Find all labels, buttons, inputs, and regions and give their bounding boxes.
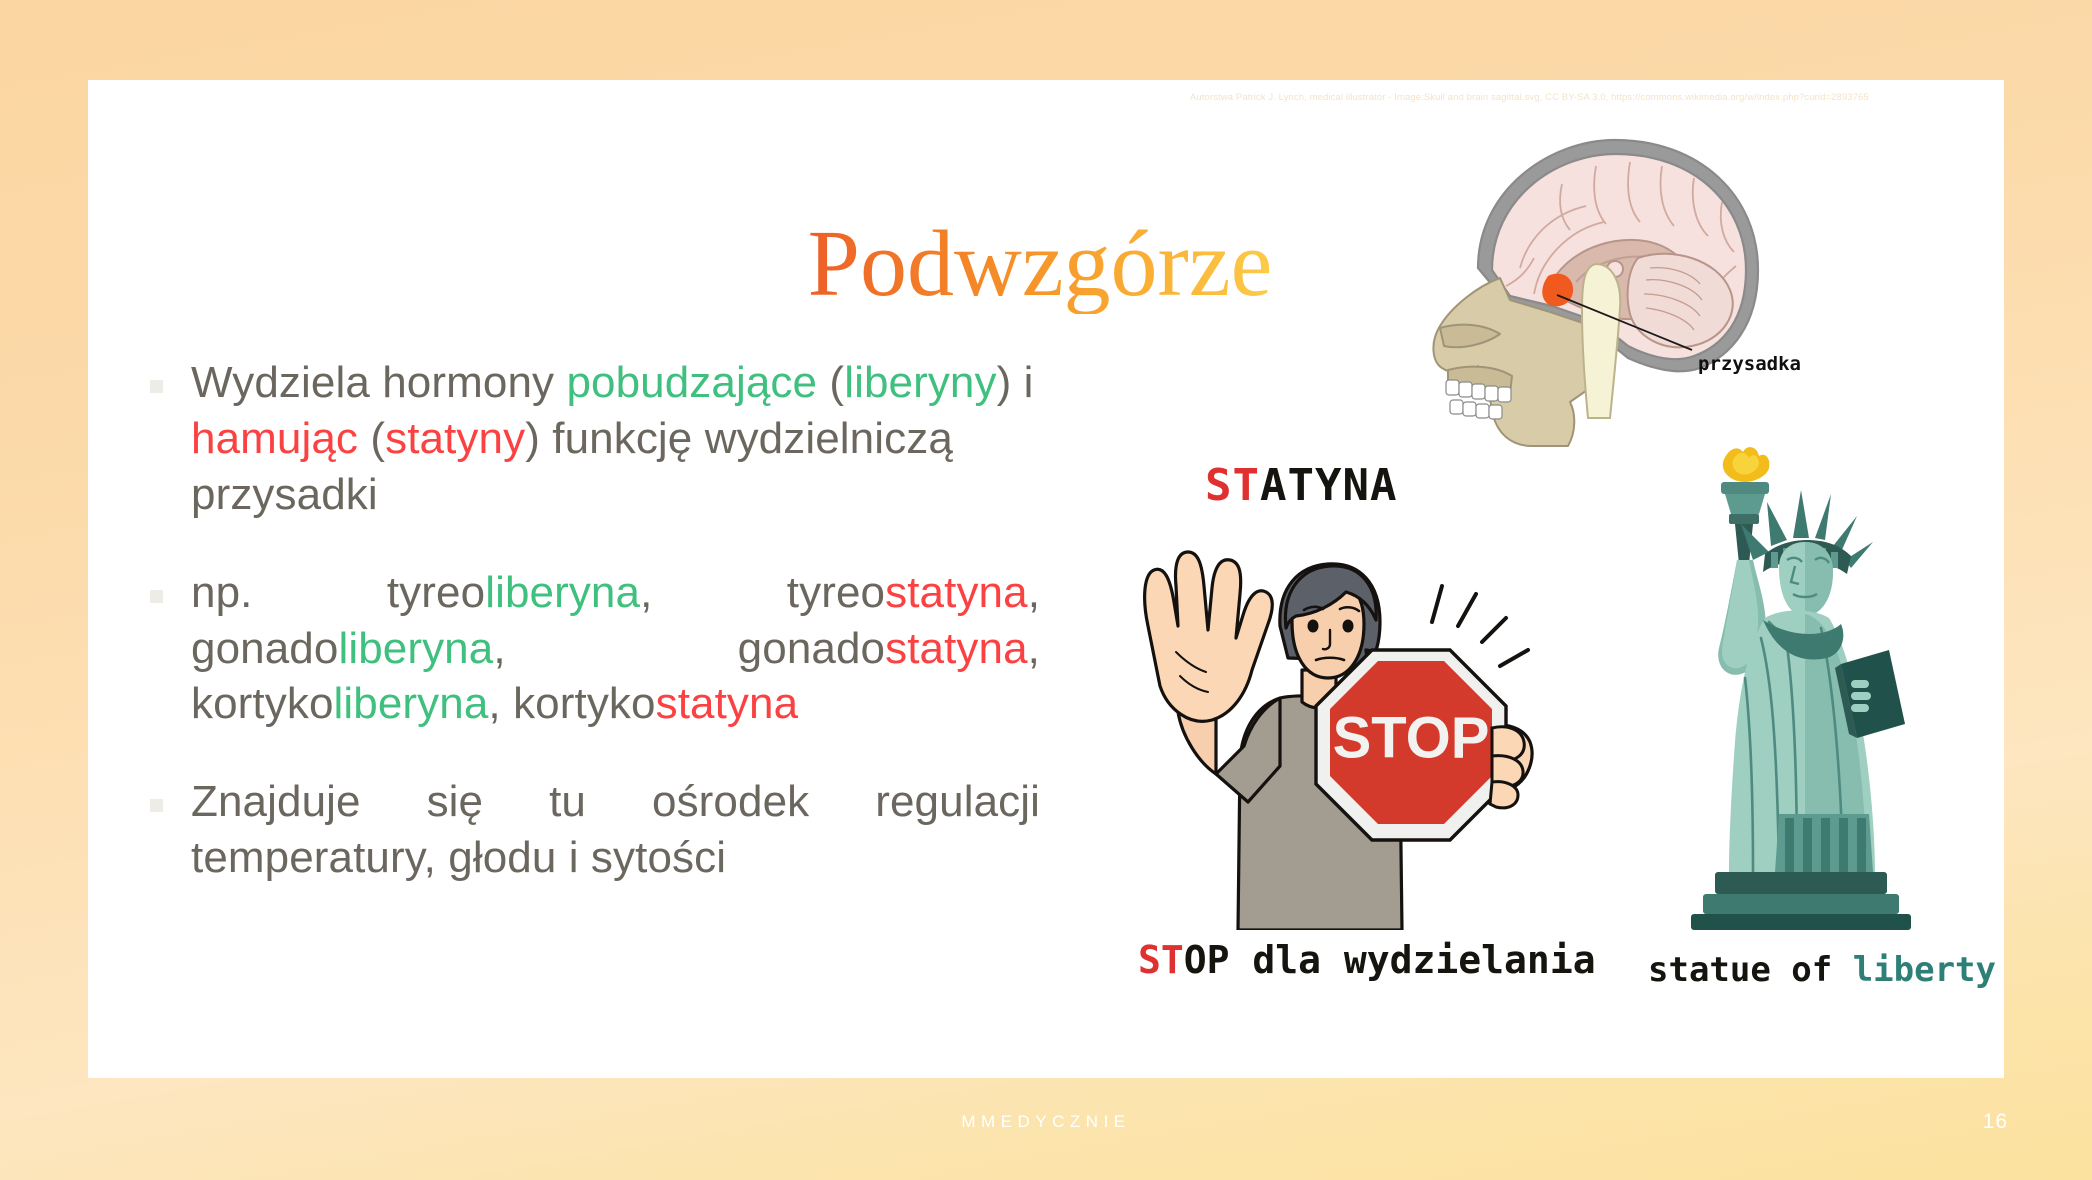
text-run: pobudzające bbox=[566, 358, 817, 407]
text-run: ) i bbox=[997, 358, 1034, 407]
text-run: Znajduje się tu ośrodek regulacji temper… bbox=[191, 777, 1040, 882]
bullet-text: Znajduje się tu ośrodek regulacji temper… bbox=[191, 774, 1040, 886]
woman-holding-stop-sign-illustration: STOP bbox=[1120, 530, 1540, 930]
skull-brain-sagittal-illustration: przysadka bbox=[1400, 118, 1800, 448]
text-run: Wydziela hormony bbox=[191, 358, 566, 407]
pituitary-label: przysadka bbox=[1698, 353, 1800, 375]
liberty-caption: statue of liberty bbox=[1648, 950, 1996, 990]
text-run: np. tyreo bbox=[191, 568, 485, 617]
text-run: liberyny bbox=[844, 358, 996, 407]
stop-caption-accent: ST bbox=[1138, 938, 1184, 982]
list-item: Wydziela hormony pobudzające (liberyny) … bbox=[150, 355, 1040, 523]
text-run: ( bbox=[358, 414, 385, 463]
liberty-caption-accent: liberty bbox=[1853, 950, 1996, 990]
text-run: , kortyko bbox=[488, 679, 655, 728]
list-item: Znajduje się tu ośrodek regulacji temper… bbox=[150, 774, 1040, 886]
liberty-caption-plain: statue of bbox=[1648, 950, 1853, 990]
statue-of-liberty-illustration bbox=[1645, 442, 1925, 932]
footer-brand: MMEDYCZNIE bbox=[0, 1112, 2092, 1132]
statyna-heading-accent: ST bbox=[1205, 460, 1260, 511]
statyna-heading: STATYNA bbox=[1205, 460, 1397, 511]
text-run: statyny bbox=[385, 414, 525, 463]
text-run: liberyna bbox=[338, 624, 493, 673]
image-attribution: Autorstwa Patrick J. Lynch, medical illu… bbox=[1190, 92, 1990, 103]
bullet-text: np. tyreoliberyna, tyreostatyna, gonadol… bbox=[191, 565, 1040, 733]
text-run: ( bbox=[817, 358, 844, 407]
text-run: hamując bbox=[191, 414, 358, 463]
text-run: statyna bbox=[656, 679, 799, 728]
bullet-marker-icon bbox=[150, 590, 163, 603]
text-run: liberyna bbox=[485, 568, 640, 617]
page-title: Podwzgórze bbox=[720, 215, 1360, 314]
bullet-marker-icon bbox=[150, 799, 163, 812]
text-run: statyna bbox=[885, 624, 1028, 673]
list-item: np. tyreoliberyna, tyreostatyna, gonadol… bbox=[150, 565, 1040, 733]
text-run: , gonado bbox=[493, 624, 885, 673]
bullet-list: Wydziela hormony pobudzające (liberyny) … bbox=[150, 355, 1040, 928]
stop-sign-text: STOP bbox=[1333, 705, 1490, 770]
statyna-heading-rest: ATYNA bbox=[1260, 460, 1397, 511]
stop-caption: STOP dla wydzielania bbox=[1138, 938, 1596, 982]
bullet-text: Wydziela hormony pobudzające (liberyny) … bbox=[191, 355, 1040, 523]
page-number: 16 bbox=[1983, 1110, 2008, 1134]
text-run: , tyreo bbox=[640, 568, 885, 617]
bullet-marker-icon bbox=[150, 380, 163, 393]
text-run: liberyna bbox=[334, 679, 489, 728]
text-run: statyna bbox=[885, 568, 1028, 617]
stop-caption-rest: OP dla wydzielania bbox=[1184, 938, 1596, 982]
